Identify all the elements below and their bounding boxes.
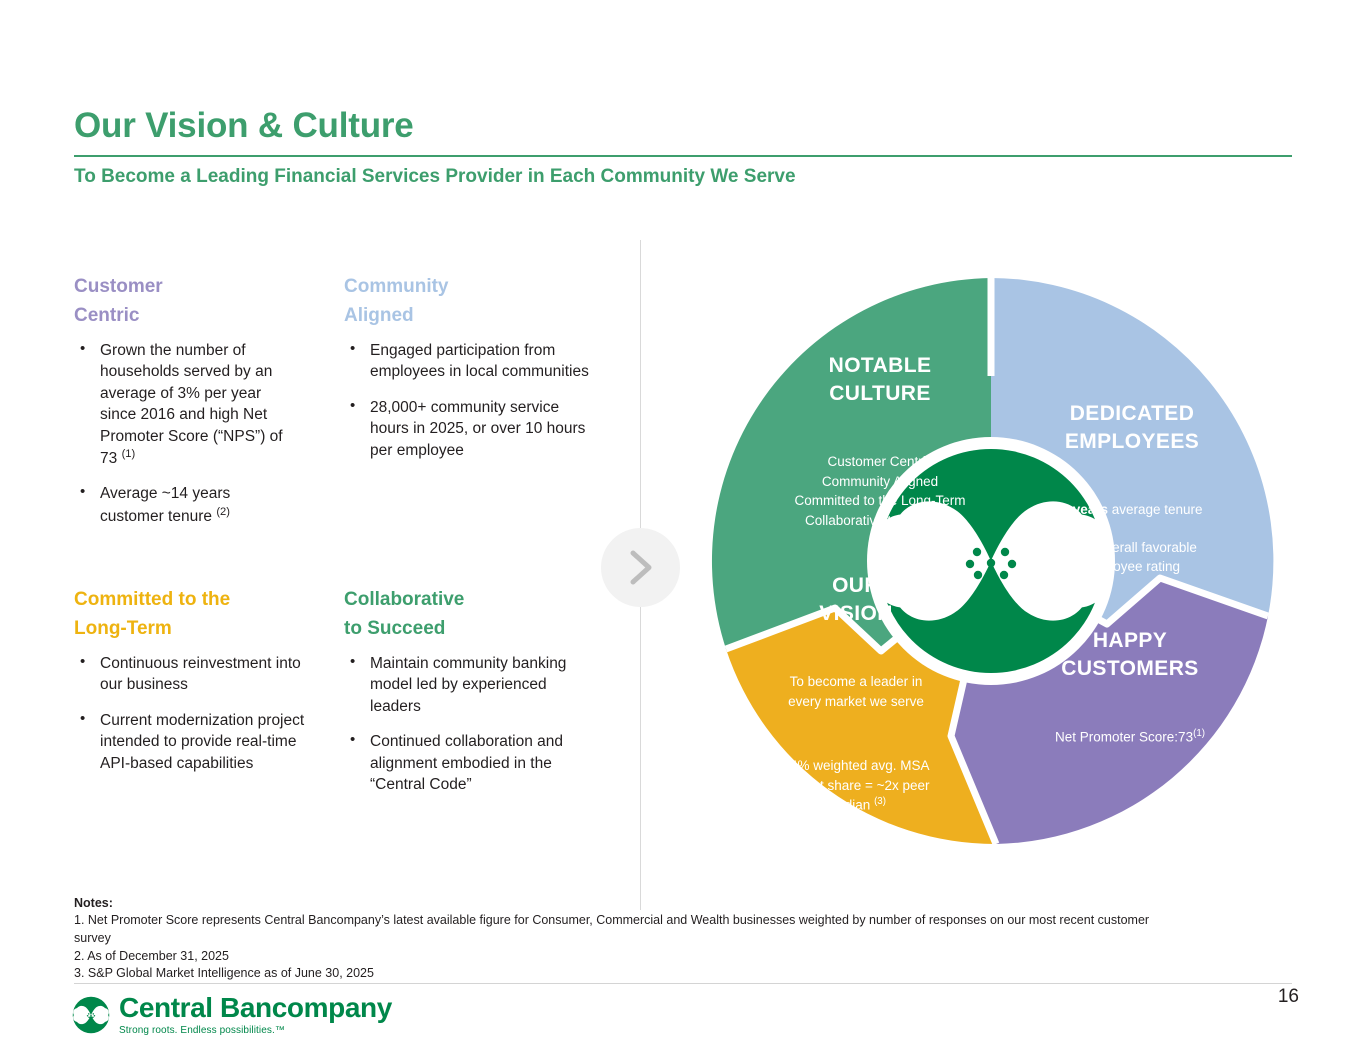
title-divider [74, 155, 1292, 157]
page-title: Our Vision & Culture [74, 106, 414, 146]
note-item: 2. As of December 31, 2025 [74, 948, 1294, 966]
logo-text: Central Bancompany Strong roots. Endless… [119, 994, 392, 1036]
dogwood-flower-logo-icon [72, 996, 110, 1034]
list-item: 28,000+ community service hours in 2025,… [344, 397, 600, 461]
wheel-svg [706, 276, 1276, 846]
footnote-ref: (1) [122, 448, 136, 460]
logo-company-name: Central Bancompany [119, 994, 392, 1022]
list-item: Average ~14 years customer tenure (2) [74, 483, 292, 527]
column-heading: Committed to the Long-Term [74, 586, 324, 643]
logo-tagline: Strong roots. Endless possibilities.™ [119, 1025, 392, 1036]
column-customer-centric: Customer Centric Grown the number of hou… [74, 273, 292, 541]
list-item: Continuous reinvestment into our busines… [74, 653, 324, 696]
list-item: Maintain community banking model led by … [344, 653, 600, 717]
slide-root: Our Vision & Culture To Become a Leading… [0, 0, 1365, 1055]
page-number: 16 [1278, 986, 1299, 1008]
column-heading: Collaborative to Succeed [344, 586, 600, 643]
notes-block: Notes: 1. Net Promoter Score represents … [74, 896, 1294, 983]
list-item: Engaged participation from employees in … [344, 340, 600, 383]
column-committed-long-term: Committed to the Long-Term Continuous re… [74, 586, 324, 788]
bullet-list: Engaged participation from employees in … [344, 340, 600, 461]
chevron-right-button[interactable] [601, 528, 680, 607]
column-collaborative-to-succeed: Collaborative to Succeed Maintain commun… [344, 586, 600, 809]
footer-divider [74, 983, 1292, 984]
bullet-list: Maintain community banking model led by … [344, 653, 600, 795]
note-item: 3. S&P Global Market Intelligence as of … [74, 965, 1294, 983]
list-item: Current modernization project intended t… [74, 710, 324, 774]
chevron-right-icon [601, 528, 680, 607]
list-item: Continued collaboration and alignment em… [344, 731, 600, 795]
bullet-list: Continuous reinvestment into our busines… [74, 653, 324, 774]
company-logo: Central Bancompany Strong roots. Endless… [72, 994, 392, 1036]
vision-culture-wheel: NOTABLE CULTURE Customer Centric Communi… [706, 276, 1276, 846]
note-item-continuation: survey [74, 930, 1294, 948]
page-subtitle: To Become a Leading Financial Services P… [74, 166, 796, 188]
list-item: Grown the number of households served by… [74, 340, 292, 469]
column-heading: Community Aligned [344, 273, 600, 330]
bullet-list: Grown the number of households served by… [74, 340, 292, 527]
footnote-ref: (2) [216, 506, 230, 518]
column-heading: Customer Centric [74, 273, 292, 330]
note-item: 1. Net Promoter Score represents Central… [74, 912, 1294, 930]
column-community-aligned: Community Aligned Engaged participation … [344, 273, 600, 475]
notes-heading: Notes: [74, 896, 1294, 910]
